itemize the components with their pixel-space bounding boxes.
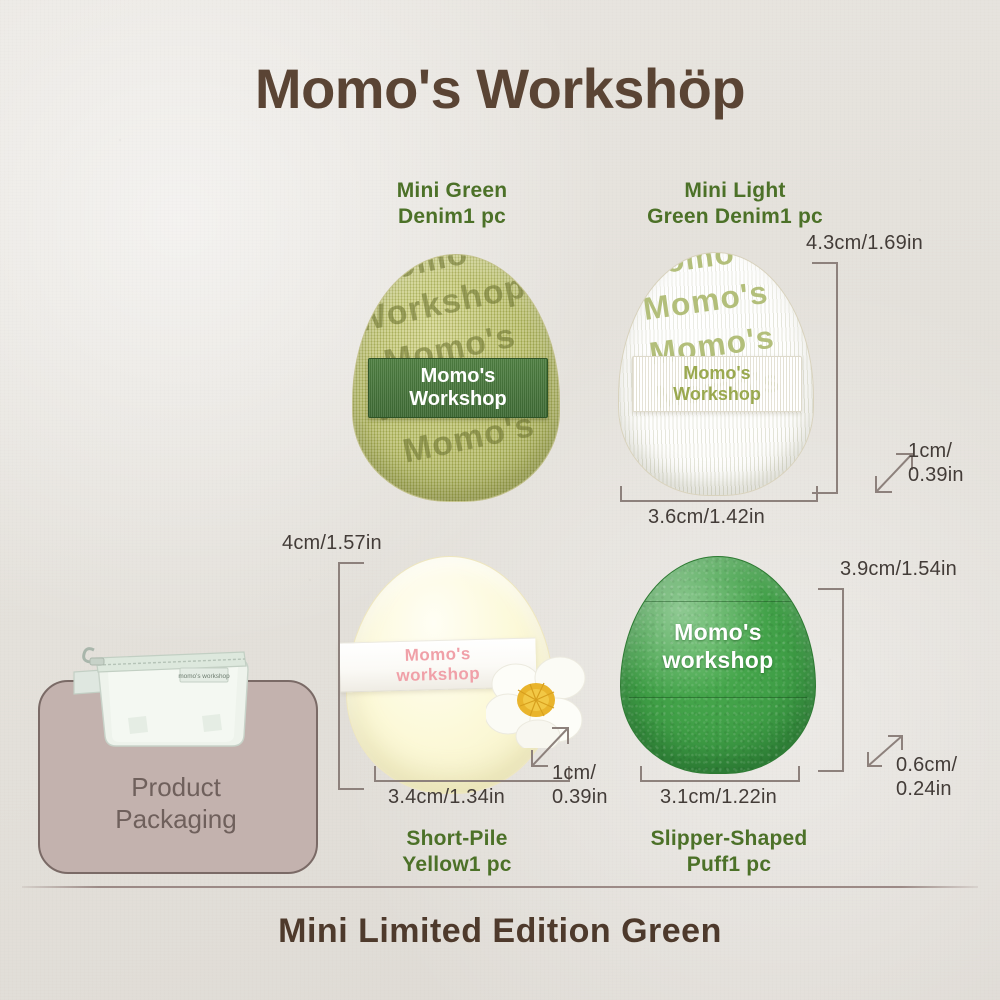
- band-text-line2: Workshop: [409, 388, 506, 411]
- dimension-width-light-green-denim: 3.6cm/1.42in: [648, 506, 765, 530]
- product-image-mini-light-green-denim: Momo's Momo's Momo's Momo's Momo's Works…: [618, 252, 814, 496]
- puff-seam-top: [629, 601, 808, 602]
- dimension-width-short-pile-yellow: 3.4cm/1.34in: [388, 786, 505, 810]
- dimension-width-slipper-shaped-puff: 3.1cm/1.22in: [660, 786, 777, 810]
- bracket-height-light-green-denim: [812, 262, 838, 494]
- caption-mini-light-green-denim: Mini Light Green Denim1 pc: [600, 178, 870, 229]
- pouch-brand-tag-text: momo's workshop: [178, 673, 230, 680]
- product-image-slipper-shaped-puff: Momo's workshop: [620, 556, 816, 774]
- product-packaging-pouch: momo's workshop: [72, 640, 262, 755]
- puff-seam-bottom: [629, 697, 808, 698]
- footer-title: Mini Limited Edition Green: [0, 912, 1000, 951]
- caption-mini-green-denim: Mini Green Denim1 pc: [352, 178, 552, 229]
- page-title: Momo's Workshöp: [0, 56, 1000, 121]
- puff-brand-band-green-denim: Momo's Workshop: [368, 358, 548, 418]
- dimension-thickness-light-green-denim: 1cm/ 0.39in: [908, 440, 964, 487]
- puff-body-slipper-shaped: Momo's workshop: [620, 556, 816, 774]
- product-image-short-pile-yellow: Momo's workshop: [346, 556, 554, 794]
- packaging-label: Product Packaging: [38, 772, 314, 835]
- bracket-width-slipper-shaped-puff: [640, 766, 800, 782]
- label-text-line1: Momo's: [621, 619, 815, 647]
- dimension-height-slipper-shaped-puff: 3.9cm/1.54in: [840, 558, 957, 582]
- dimension-height-short-pile-yellow: 4cm/1.57in: [282, 532, 382, 556]
- label-text-line2: workshop: [621, 647, 815, 675]
- band-text-line1: Momo's: [396, 644, 480, 666]
- footer-divider: [22, 886, 978, 888]
- dimension-height-light-green-denim: 4.3cm/1.69in: [806, 232, 923, 256]
- band-text-line2: Workshop: [673, 384, 761, 405]
- band-text-line2: workshop: [396, 664, 480, 686]
- bracket-height-slipper-shaped-puff: [818, 588, 844, 772]
- product-infographic: Momo's Workshöp Mini Green Denim1 pc Min…: [0, 0, 1000, 1000]
- puff-label-slipper-shaped: Momo's workshop: [621, 619, 815, 674]
- puff-brand-band-light-green-denim: Momo's Workshop: [632, 356, 802, 412]
- caption-slipper-shaped-puff: Slipper-Shaped Puff1 pc: [598, 826, 860, 877]
- bracket-width-light-green-denim: [620, 486, 818, 502]
- dimension-thickness-short-pile-yellow: 1cm/ 0.39in: [552, 762, 608, 809]
- dimension-thickness-slipper-shaped-puff: 0.6cm/ 0.24in: [896, 754, 957, 801]
- band-text-line1: Momo's: [673, 363, 761, 384]
- band-text-line1: Momo's: [409, 365, 506, 388]
- bracket-height-short-pile-yellow: [338, 562, 364, 790]
- product-image-mini-green-denim: Momo's Workshop Momo's Workshop Momo's M…: [352, 254, 560, 502]
- caption-short-pile-yellow: Short-Pile Yellow1 pc: [352, 826, 562, 877]
